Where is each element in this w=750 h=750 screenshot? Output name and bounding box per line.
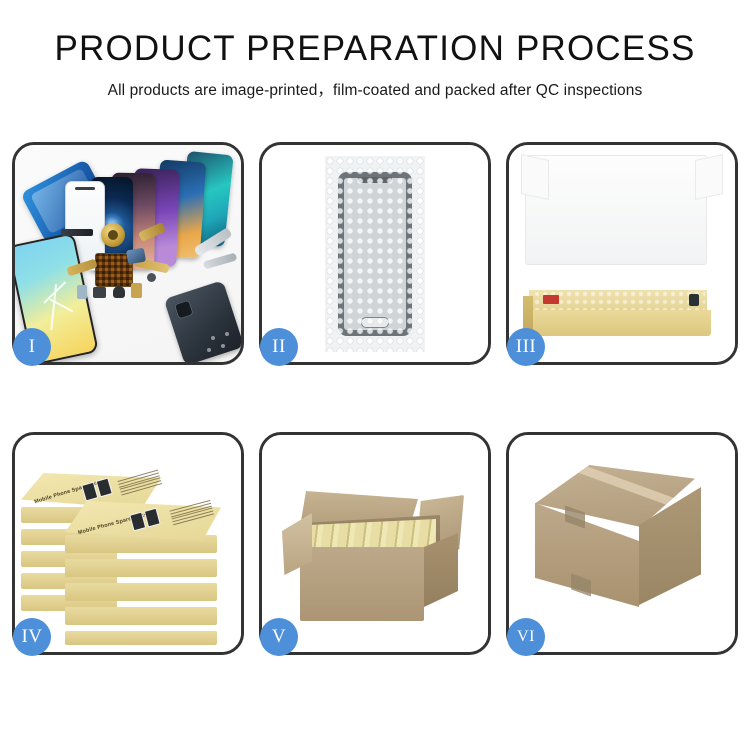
wrapped-screen [338,172,412,336]
packing-tape [556,456,687,511]
stacked-box [65,583,217,601]
step-badge-3: III [507,328,545,366]
process-step-3[interactable]: III [506,142,738,365]
small-component [131,283,142,298]
screen-label-sticker [543,295,559,304]
box-lid-flap-right [695,154,723,200]
step-4-image: Mobile Phone Spare Parts [15,435,241,652]
stacked-box [65,607,217,625]
small-component [93,287,106,298]
stacked-box [65,631,217,645]
process-step-grid: I II [12,142,738,655]
open-shipping-carton [288,469,460,629]
screw [225,332,229,336]
product-preparation-infographic: PRODUCT PREPARATION PROCESS All products… [0,0,750,750]
kraft-box-stack: Mobile Phone Spare Parts [21,449,231,639]
step-6-image [509,435,735,652]
box-front-face [523,310,711,336]
wrapped-screen-in-box [533,290,705,310]
phone-lineup [87,151,237,269]
step-1-image [15,145,241,362]
step-5-image [262,435,488,652]
step-badge-1: I [13,328,51,366]
box-lid-back [525,155,707,265]
screw [211,336,215,340]
bar-connector-part [61,229,93,236]
box-lid-flap-left [521,154,549,200]
step-3-image [509,145,735,362]
open-kraft-box [523,288,711,336]
screw [207,348,211,352]
header: PRODUCT PREPARATION PROCESS All products… [0,0,750,100]
process-step-5[interactable]: V [259,432,491,655]
bubble-wrap-sheet [325,156,425,352]
stacked-box [65,559,217,577]
carton-front-face [300,547,424,621]
process-step-4[interactable]: Mobile Phone Spare Parts [12,432,244,655]
page-title: PRODUCT PREPARATION PROCESS [0,30,750,69]
process-step-2[interactable]: II [259,142,491,365]
screw [221,344,225,348]
step-badge-4: IV [13,618,51,656]
sealed-shipping-carton [531,465,711,631]
phone-back-cover [164,280,241,362]
small-component [77,285,87,299]
process-step-6[interactable]: VI [506,432,738,655]
small-component [113,286,125,298]
speaker-coil-part [101,223,125,247]
step-badge-2: II [260,328,298,366]
step-badge-6: VI [507,618,545,656]
small-component [147,273,156,282]
page-subtitle: All products are image-printed，film-coat… [0,78,750,100]
step-2-image [262,145,488,362]
step-badge-5: V [260,618,298,656]
process-step-1[interactable]: I [12,142,244,365]
